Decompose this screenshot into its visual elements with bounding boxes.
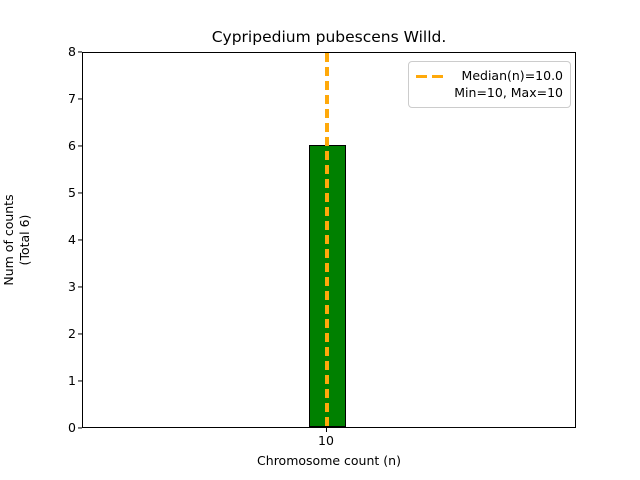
y-tick-label-7: 7 bbox=[60, 93, 76, 106]
chart-legend: Median(n)=10.0 Min=10, Max=10 bbox=[408, 61, 571, 108]
x-axis-tick-marks bbox=[82, 428, 576, 432]
y-tick-label-1: 1 bbox=[60, 375, 76, 388]
x-tick-mark-10 bbox=[326, 428, 327, 432]
chart-title: Cypripedium pubescens Willd. bbox=[82, 28, 576, 47]
median-line bbox=[325, 53, 328, 427]
x-axis-title: Chromosome count (n) bbox=[82, 453, 576, 468]
y-tick-label-3: 3 bbox=[60, 281, 76, 294]
y-tick-label-0: 0 bbox=[60, 422, 76, 435]
chart-figure: Cypripedium pubescens Willd. 0 1 2 3 4 5… bbox=[0, 0, 640, 480]
legend-entry-median: Median(n)=10.0 Min=10, Max=10 bbox=[416, 67, 563, 101]
y-tick-label-6: 6 bbox=[60, 140, 76, 153]
legend-label-median: Median(n)=10.0 bbox=[454, 67, 563, 84]
y-tick-label-2: 2 bbox=[60, 328, 76, 341]
y-tick-label-8: 8 bbox=[60, 46, 76, 59]
dashed-line-icon bbox=[416, 70, 446, 84]
x-tick-label-10: 10 bbox=[318, 434, 334, 448]
plot-area: Median(n)=10.0 Min=10, Max=10 bbox=[82, 52, 576, 428]
legend-label-minmax: Min=10, Max=10 bbox=[454, 84, 563, 101]
y-tick-label-5: 5 bbox=[60, 187, 76, 200]
y-axis-title-line2: (Total 6) bbox=[17, 215, 33, 266]
y-tick-label-4: 4 bbox=[60, 234, 76, 247]
x-axis-tick-labels: 10 bbox=[82, 434, 576, 450]
y-axis-title: Num of counts (Total 6) bbox=[0, 52, 34, 428]
y-axis-title-line1: Num of counts bbox=[1, 194, 17, 285]
